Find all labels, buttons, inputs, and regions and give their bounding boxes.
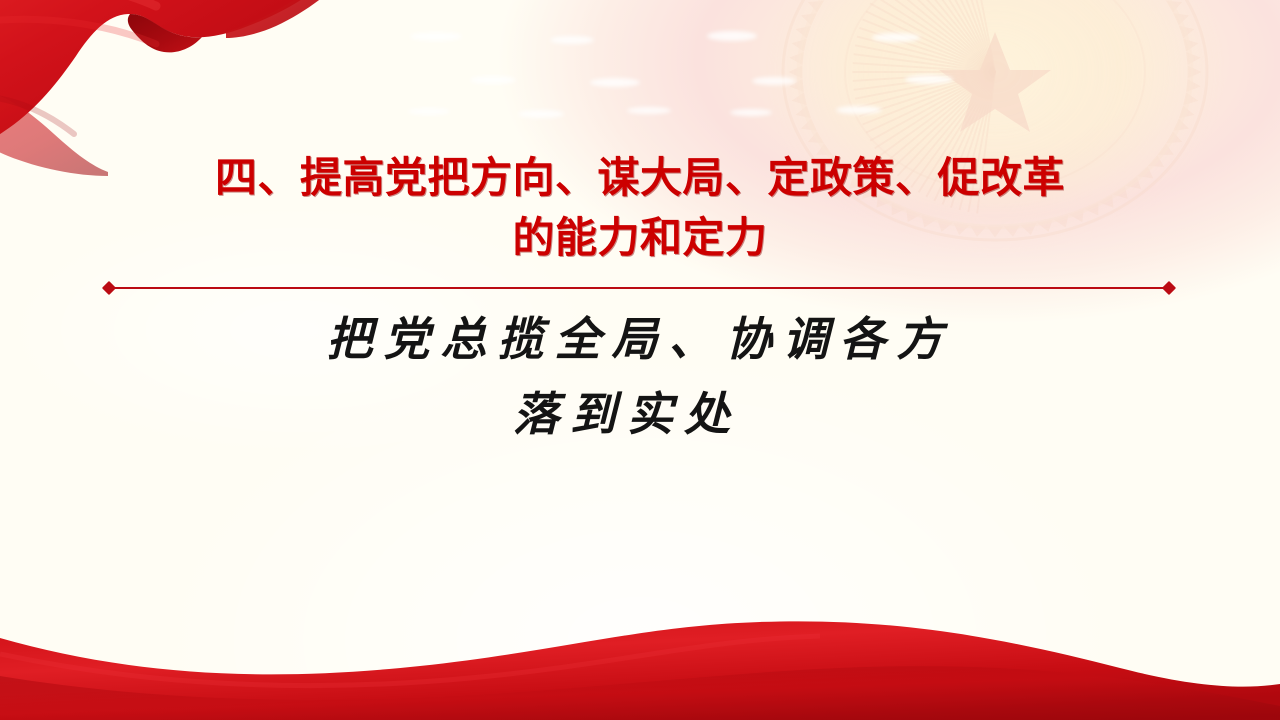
slide-content: 四、提高党把方向、谋大局、定政策、促改革 的能力和定力 把党总揽全局、协调各方 …	[0, 0, 1280, 720]
divider-rule	[109, 287, 1169, 289]
subtitle-line-1: 把党总揽全局、协调各方	[0, 302, 1280, 377]
title-line-2: 的能力和定力	[0, 208, 1280, 268]
breadcrumb	[104, 283, 1174, 293]
diamond-right-icon	[1162, 281, 1176, 295]
title-line-1: 四、提高党把方向、谋大局、定政策、促改革	[0, 148, 1280, 208]
subtitle-line-2: 落到实处	[0, 377, 1280, 452]
subtitle: 把党总揽全局、协调各方 落到实处	[0, 302, 1280, 451]
slide-canvas: 四、提高党把方向、谋大局、定政策、促改革 的能力和定力 把党总揽全局、协调各方 …	[0, 0, 1280, 720]
page-title: 四、提高党把方向、谋大局、定政策、促改革 的能力和定力	[0, 148, 1280, 267]
